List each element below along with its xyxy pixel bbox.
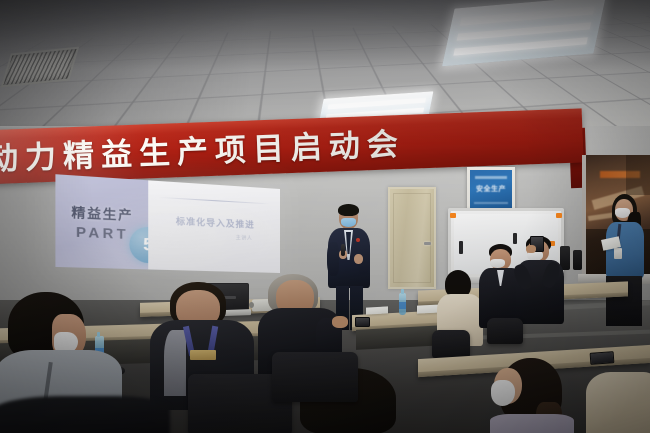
slide-left-panel: 精益生产 PART 5 (55, 174, 148, 269)
attendee-foreground-woman (490, 358, 580, 433)
attendee-right-beige (586, 372, 650, 433)
attendee-suit-mask (490, 259, 505, 268)
window-shadow (626, 155, 650, 195)
foreground-blur-left (0, 396, 170, 433)
slide-part-label: PART (76, 224, 129, 242)
chair-front-right (272, 352, 358, 402)
poster-top-band (475, 176, 507, 179)
meeting-room-photo: 动力精益生产项目启动会 精益生产 PART 5 标准化导入及推进 主讲人 安全生… (0, 0, 650, 433)
door-handle[interactable] (424, 242, 431, 245)
presenter-face-mask (341, 218, 356, 227)
whiteboard-marker[interactable] (459, 241, 463, 254)
poster-label: 安全生产 (470, 184, 512, 194)
phone-on-table[interactable] (355, 317, 370, 327)
whiteboard-clip (450, 213, 456, 218)
slide-subtitle: 标准化导入及推进 (176, 214, 255, 230)
presenter-hair (338, 204, 359, 216)
presenter-lapel-pin (356, 238, 360, 242)
beige-coat-body (586, 372, 650, 433)
standing-staff-jacket (606, 222, 644, 278)
safety-poster: 安全生产 (467, 167, 515, 213)
gray-hair-hand (332, 316, 348, 328)
lanyard-shirt-left (164, 330, 186, 396)
water-bottle-presenter (399, 293, 406, 315)
standing-staff-badge (614, 248, 622, 259)
slide-divider (159, 197, 270, 205)
foreground-woman-top (490, 414, 574, 433)
slide-subtitle-small: 主讲人 (236, 234, 253, 242)
poster-bottom-band (474, 202, 508, 204)
paper-presenter-table (366, 306, 388, 314)
projection-screen: 精益生产 PART 5 标准化导入及推进 主讲人 (55, 174, 280, 273)
whiteboard-clip (556, 213, 562, 218)
slide-right-panel: 标准化导入及推进 主讲人 (148, 180, 280, 273)
chair-right-1 (432, 330, 470, 358)
presenter-arm-left (327, 242, 339, 276)
presentation-slide: 精益生产 PART 5 标准化导入及推进 主讲人 (55, 174, 280, 273)
banner-text: 动力精益生产项目启动会 (0, 119, 406, 179)
standing-staff (604, 196, 646, 326)
room-door[interactable] (388, 187, 436, 289)
microphone[interactable] (341, 244, 345, 256)
photographer-hand (526, 245, 536, 253)
thermos-second (573, 250, 582, 270)
slide-title: 精益生产 (71, 203, 133, 225)
lanyard-badge (190, 350, 216, 360)
whiteboard-marker[interactable] (513, 233, 517, 244)
presenter-hand-right (354, 254, 363, 264)
chair-right-2 (487, 318, 523, 344)
remote-control[interactable] (590, 351, 615, 365)
attendee-photographer (518, 238, 562, 336)
